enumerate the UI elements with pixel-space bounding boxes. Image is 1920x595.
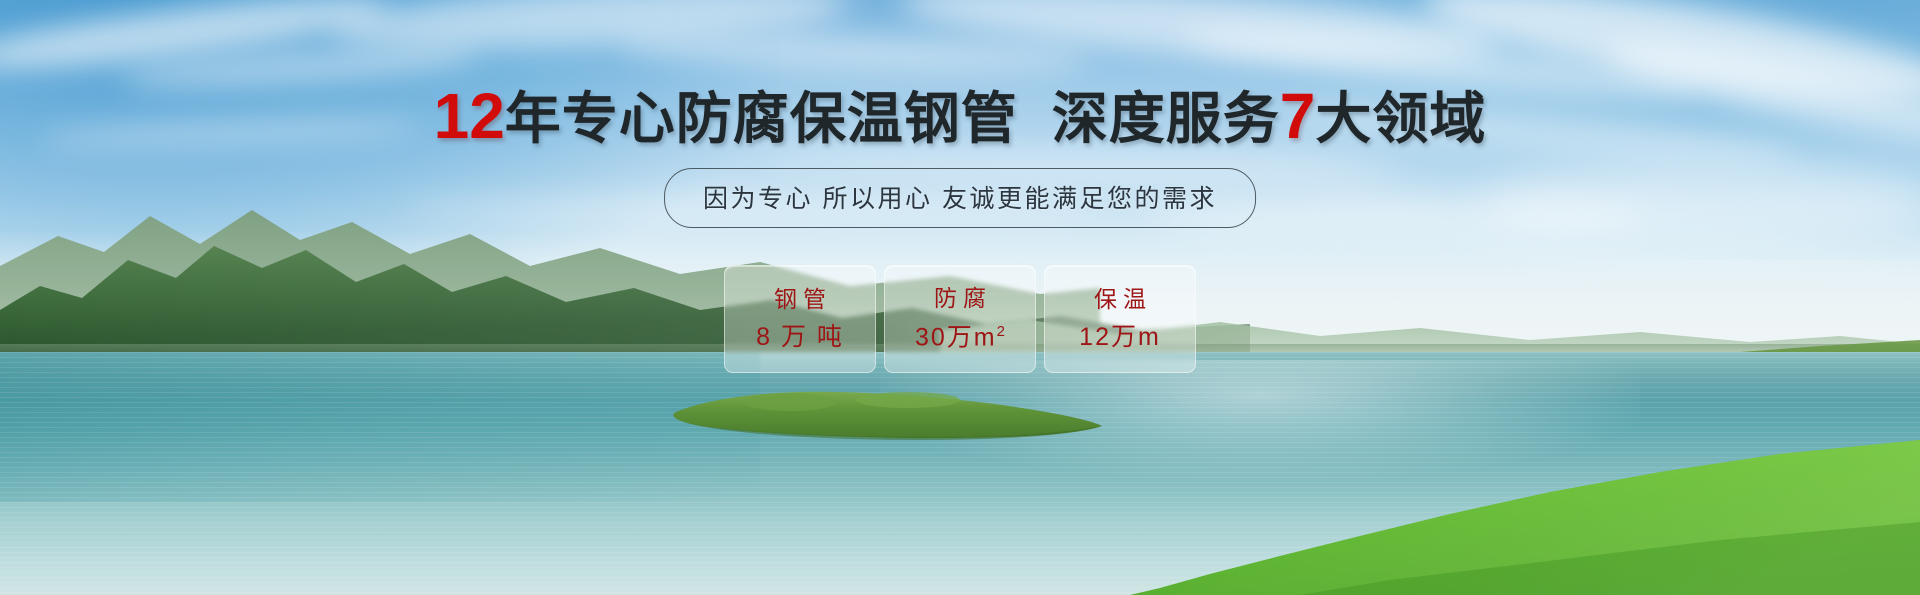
headline-text-part2: 深度服务 bbox=[1052, 87, 1280, 150]
stat-card-insulation[interactable]: 保温 12万m bbox=[1044, 265, 1196, 373]
stat-card-steel-pipe[interactable]: 钢管 8 万 吨 bbox=[724, 265, 876, 373]
headline: 12年专心防腐保温钢管深度服务7大领域 bbox=[0, 84, 1920, 148]
stat-card-value: 8 万 吨 bbox=[756, 325, 844, 350]
subtitle-pill: 因为专心 所以用心 友诚更能满足您的需求 bbox=[664, 168, 1256, 228]
headline-years-number: 12 bbox=[434, 80, 505, 152]
stat-card-value-superscript: 2 bbox=[997, 323, 1005, 340]
stat-card-value: 30万m2 bbox=[915, 324, 1005, 350]
stat-card-anticorrosion[interactable]: 防腐 30万m2 bbox=[884, 265, 1036, 373]
banner-content: 12年专心防腐保温钢管深度服务7大领域 因为专心 所以用心 友诚更能满足您的需求… bbox=[0, 0, 1920, 595]
stat-card-value-main: 8 万 吨 bbox=[756, 323, 844, 351]
stat-card-value-main: 30万m bbox=[915, 324, 997, 352]
headline-text-part1: 年专心防腐保温钢管 bbox=[505, 87, 1018, 150]
stat-card-value-main: 12万m bbox=[1079, 323, 1161, 351]
headline-text-part3: 大领域 bbox=[1315, 87, 1486, 150]
stat-cards-row: 钢管 8 万 吨 防腐 30万m2 保温 12万m bbox=[724, 265, 1196, 373]
stat-card-label: 防腐 bbox=[928, 287, 992, 310]
stat-card-label: 钢管 bbox=[768, 288, 832, 311]
stat-card-label: 保温 bbox=[1088, 288, 1152, 311]
headline-fields-number: 7 bbox=[1280, 80, 1316, 152]
hero-banner: 12年专心防腐保温钢管深度服务7大领域 因为专心 所以用心 友诚更能满足您的需求… bbox=[0, 0, 1920, 595]
stat-card-value: 12万m bbox=[1079, 325, 1161, 350]
